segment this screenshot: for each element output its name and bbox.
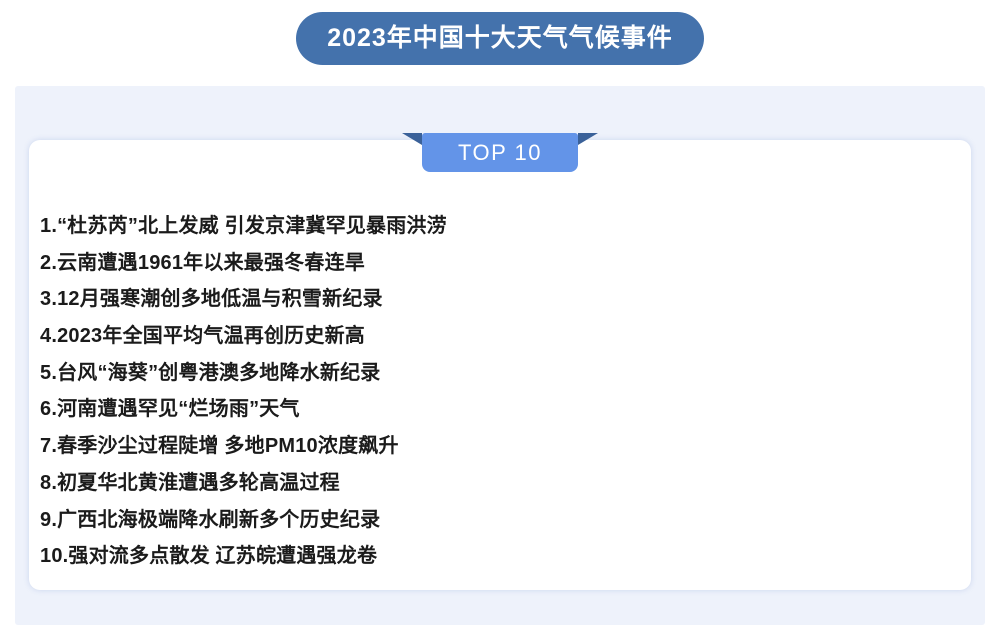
- page-title: 2023年中国十大天气气候事件: [327, 26, 673, 51]
- list-item: 7.春季沙尘过程陡增 多地PM10浓度飙升: [40, 428, 920, 465]
- list-item: 6.河南遭遇罕见“烂场雨”天气: [40, 391, 920, 428]
- page-title-banner: 2023年中国十大天气气候事件: [296, 12, 704, 65]
- list-item: 4.2023年全国平均气温再创历史新高: [40, 318, 920, 355]
- ribbon-tail-right-icon: [578, 133, 598, 145]
- ribbon-body: TOP 10: [422, 133, 578, 172]
- list-item: 9.广西北海极端降水刷新多个历史纪录: [40, 502, 920, 539]
- list-item: 10.强对流多点散发 辽苏皖遭遇强龙卷: [40, 538, 920, 575]
- top10-ribbon: TOP 10: [402, 133, 598, 172]
- list-item: 1.“杜苏芮”北上发威 引发京津冀罕见暴雨洪涝: [40, 208, 920, 245]
- list-item: 2.云南遭遇1961年以来最强冬春连旱: [40, 245, 920, 282]
- list-item: 5.台风“海葵”创粤港澳多地降水新纪录: [40, 355, 920, 392]
- ribbon-label: TOP 10: [458, 142, 542, 164]
- events-list: 1.“杜苏芮”北上发威 引发京津冀罕见暴雨洪涝 2.云南遭遇1961年以来最强冬…: [40, 208, 920, 575]
- list-item: 8.初夏华北黄淮遭遇多轮高温过程: [40, 465, 920, 502]
- ribbon-tail-left-icon: [402, 133, 422, 145]
- list-item: 3.12月强寒潮创多地低温与积雪新纪录: [40, 281, 920, 318]
